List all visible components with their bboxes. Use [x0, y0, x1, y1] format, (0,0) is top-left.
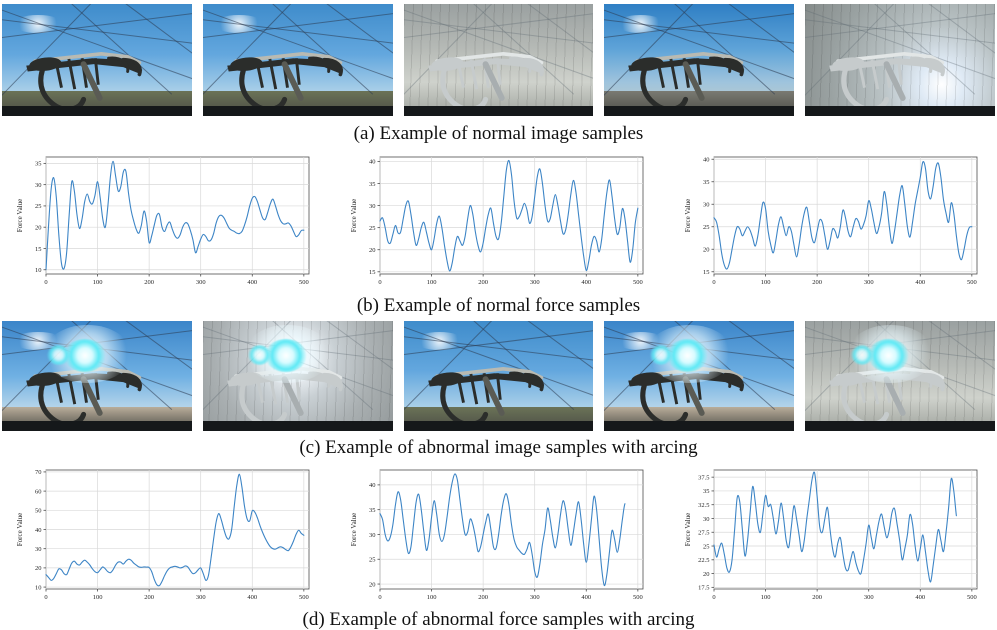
- x-tick-label: 500: [633, 594, 643, 601]
- y-axis-label: Force Value: [16, 199, 24, 233]
- force-chart-b1: 0100200300400500101520253035Force Value: [12, 149, 317, 292]
- train-roof: [404, 106, 594, 116]
- y-tick-label: 20: [35, 565, 42, 572]
- plot-area: [46, 157, 309, 274]
- y-tick-label: 40: [703, 157, 710, 164]
- plot-area: [380, 470, 643, 589]
- x-tick-label: 200: [144, 594, 154, 601]
- caption-c: (c) Example of abnormal image samples wi…: [0, 438, 997, 457]
- abnormal-pantograph-arc-tunnel: [805, 321, 995, 431]
- y-tick-label: 35: [369, 181, 376, 188]
- y-tick-label: 40: [35, 527, 42, 534]
- y-tick-label: 35: [703, 179, 710, 186]
- y-axis-label: Force Value: [350, 513, 358, 547]
- y-axis-label: Force Value: [350, 199, 358, 233]
- arcing-flash: [64, 339, 106, 372]
- x-tick-label: 0: [378, 594, 381, 601]
- pantograph-graphic: [13, 20, 160, 116]
- y-tick-label: 22.5: [698, 557, 709, 564]
- train-roof: [2, 106, 192, 116]
- y-tick-label: 35: [369, 507, 376, 514]
- y-tick-label: 25: [703, 224, 710, 231]
- x-tick-label: 0: [712, 279, 715, 286]
- photo-row-c: [0, 321, 997, 431]
- x-tick-label: 300: [196, 279, 206, 286]
- train-roof: [805, 106, 995, 116]
- y-tick-label: 10: [35, 584, 42, 591]
- normal-pantograph-blue-sky-1: [2, 4, 192, 116]
- x-tick-label: 0: [44, 594, 47, 601]
- y-tick-label: 25: [35, 203, 42, 210]
- y-tick-label: 32.5: [698, 502, 709, 509]
- y-tick-label: 40: [369, 159, 376, 166]
- x-tick-label: 100: [427, 279, 437, 286]
- train-roof: [2, 421, 192, 431]
- x-tick-label: 200: [478, 594, 488, 601]
- y-tick-label: 15: [703, 269, 710, 276]
- force-chart-d1: 010020030040050010203040506070Force Valu…: [12, 462, 317, 607]
- arcing-flash: [265, 339, 307, 372]
- y-tick-label: 50: [35, 508, 42, 515]
- y-tick-label: 20: [703, 247, 710, 254]
- figure-container: (a) Example of normal image samples 0100…: [0, 4, 997, 618]
- y-tick-label: 30: [35, 182, 42, 189]
- x-tick-label: 0: [712, 594, 715, 601]
- y-tick-label: 35: [35, 161, 42, 168]
- abnormal-pantograph-arc-tunnel-flare: [203, 321, 393, 431]
- x-tick-label: 400: [915, 279, 925, 286]
- y-tick-label: 15: [35, 246, 42, 253]
- x-tick-label: 200: [812, 279, 822, 286]
- x-tick-label: 400: [581, 279, 591, 286]
- chart-row-b: 0100200300400500101520253035Force Value0…: [0, 149, 997, 292]
- normal-pantograph-tunnel-1: [404, 4, 594, 116]
- train-roof: [604, 106, 794, 116]
- pantograph-graphic: [415, 336, 562, 431]
- y-tick-label: 40: [369, 482, 376, 489]
- x-tick-label: 400: [581, 594, 591, 601]
- x-tick-label: 100: [761, 594, 771, 601]
- force-chart-b2: 0100200300400500152025303540Force Value: [346, 149, 651, 292]
- arcing-flash-secondary: [47, 345, 70, 365]
- train-roof: [203, 421, 393, 431]
- y-tick-label: 10: [35, 267, 42, 274]
- pantograph-graphic: [816, 20, 963, 116]
- abnormal-pantograph-wires-sky: [404, 321, 594, 431]
- caption-a: (a) Example of normal image samples: [0, 124, 997, 143]
- x-tick-label: 500: [633, 279, 643, 286]
- y-tick-label: 70: [35, 469, 42, 476]
- y-tick-label: 15: [369, 269, 376, 276]
- pantograph-graphic: [415, 20, 562, 116]
- y-tick-label: 35: [703, 488, 710, 495]
- y-tick-label: 30: [703, 516, 710, 523]
- train-roof: [203, 106, 393, 116]
- y-axis-label: Force Value: [16, 513, 24, 547]
- pantograph-graphic: [214, 20, 361, 116]
- x-tick-label: 500: [299, 279, 309, 286]
- abnormal-pantograph-arc-sky-1: [2, 321, 192, 431]
- normal-pantograph-overpass: [604, 4, 794, 116]
- x-tick-label: 500: [299, 594, 309, 601]
- y-tick-label: 30: [703, 202, 710, 209]
- y-tick-label: 60: [35, 488, 42, 495]
- x-tick-label: 200: [812, 594, 822, 601]
- arcing-flash: [868, 339, 910, 372]
- abnormal-pantograph-arc-sky-2: [604, 321, 794, 431]
- x-tick-label: 300: [196, 594, 206, 601]
- y-tick-label: 25: [369, 225, 376, 232]
- y-axis-label: Force Value: [684, 199, 692, 233]
- x-tick-label: 500: [967, 279, 977, 286]
- arcing-flash: [667, 339, 709, 372]
- x-tick-label: 0: [44, 279, 47, 286]
- y-axis-label: Force Value: [684, 513, 692, 547]
- y-tick-label: 20: [35, 225, 42, 232]
- arcing-flash-secondary: [248, 345, 271, 365]
- photo-row-a: [0, 4, 997, 116]
- chart-row-d: 010020030040050010203040506070Force Valu…: [0, 462, 997, 607]
- y-tick-label: 20: [369, 581, 376, 588]
- x-tick-label: 200: [478, 279, 488, 286]
- y-tick-label: 20: [369, 247, 376, 254]
- x-tick-label: 300: [530, 279, 540, 286]
- normal-pantograph-blue-sky-2: [203, 4, 393, 116]
- y-tick-label: 25: [703, 543, 710, 550]
- normal-pantograph-tunnel-exit: [805, 4, 995, 116]
- x-tick-label: 100: [761, 279, 771, 286]
- y-tick-label: 25: [369, 557, 376, 564]
- caption-d: (d) Example of abnormal force samples wi…: [0, 610, 997, 629]
- force-chart-b3: 0100200300400500152025303540Force Value: [680, 149, 985, 292]
- x-tick-label: 400: [247, 279, 257, 286]
- y-tick-label: 30: [369, 532, 376, 539]
- x-tick-label: 100: [93, 279, 103, 286]
- x-tick-label: 500: [967, 594, 977, 601]
- pantograph-graphic: [615, 20, 762, 116]
- force-chart-d2: 01002003004005002025303540Force Value: [346, 462, 651, 607]
- x-tick-label: 300: [864, 594, 874, 601]
- caption-b: (b) Example of normal force samples: [0, 296, 997, 315]
- x-tick-label: 300: [864, 279, 874, 286]
- y-tick-label: 20: [703, 571, 710, 578]
- train-roof: [404, 421, 594, 431]
- y-tick-label: 27.5: [698, 530, 709, 537]
- y-tick-label: 30: [369, 203, 376, 210]
- y-tick-label: 30: [35, 546, 42, 553]
- x-tick-label: 400: [915, 594, 925, 601]
- arcing-flash-secondary: [851, 345, 874, 365]
- x-tick-label: 400: [247, 594, 257, 601]
- x-tick-label: 300: [530, 594, 540, 601]
- y-tick-label: 37.5: [698, 474, 709, 481]
- y-tick-label: 17.5: [698, 585, 709, 592]
- force-chart-d3: 010020030040050017.52022.52527.53032.535…: [680, 462, 985, 607]
- x-tick-label: 200: [144, 279, 154, 286]
- train-roof: [805, 421, 995, 431]
- x-tick-label: 0: [378, 279, 381, 286]
- x-tick-label: 100: [427, 594, 437, 601]
- train-roof: [604, 421, 794, 431]
- x-tick-label: 100: [93, 594, 103, 601]
